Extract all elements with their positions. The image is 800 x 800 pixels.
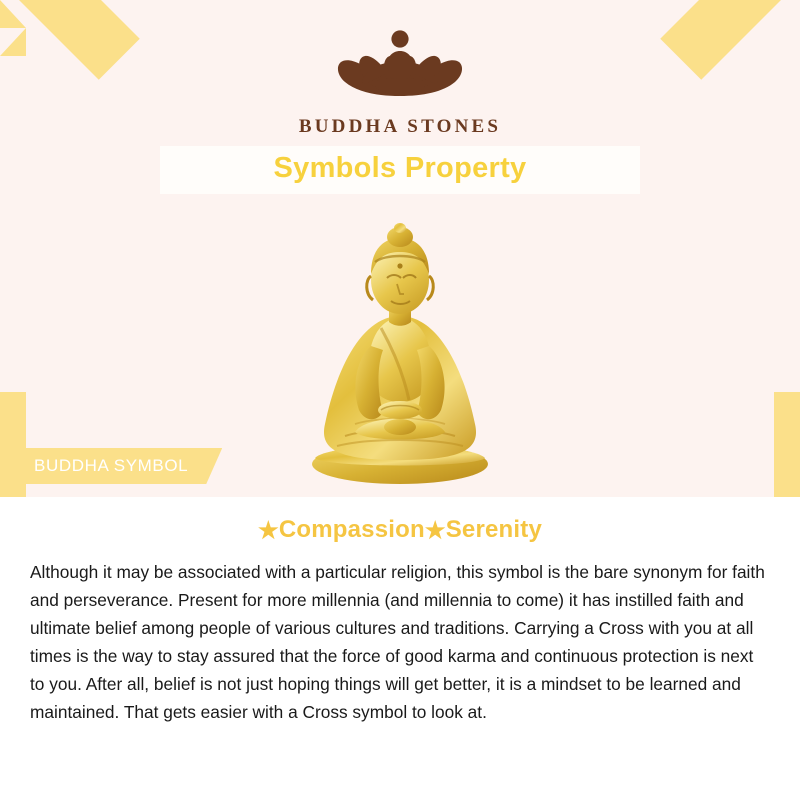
headline-word-two: Serenity <box>446 516 542 543</box>
star-icon-left: ★ <box>258 517 279 543</box>
seated-buddha-statue-icon <box>285 196 515 486</box>
headline-word-one: Compassion <box>279 516 425 543</box>
content-panel: ★Compassion★Serenity Although it may be … <box>0 497 800 800</box>
poster-page: BUDDHA STONES Symbols Property <box>0 0 800 800</box>
symbol-tag: BUDDHA SYMBOL <box>0 448 222 484</box>
brand-name: BUDDHA STONES <box>299 116 501 138</box>
headline: ★Compassion★Serenity <box>0 516 800 544</box>
star-icon-right: ★ <box>425 517 446 543</box>
page-title: Symbols Property <box>0 152 800 185</box>
body-paragraph: Although it may be associated with a par… <box>30 558 770 726</box>
brand-logo: BUDDHA STONES <box>0 22 800 138</box>
lotus-meditation-icon <box>307 22 493 112</box>
